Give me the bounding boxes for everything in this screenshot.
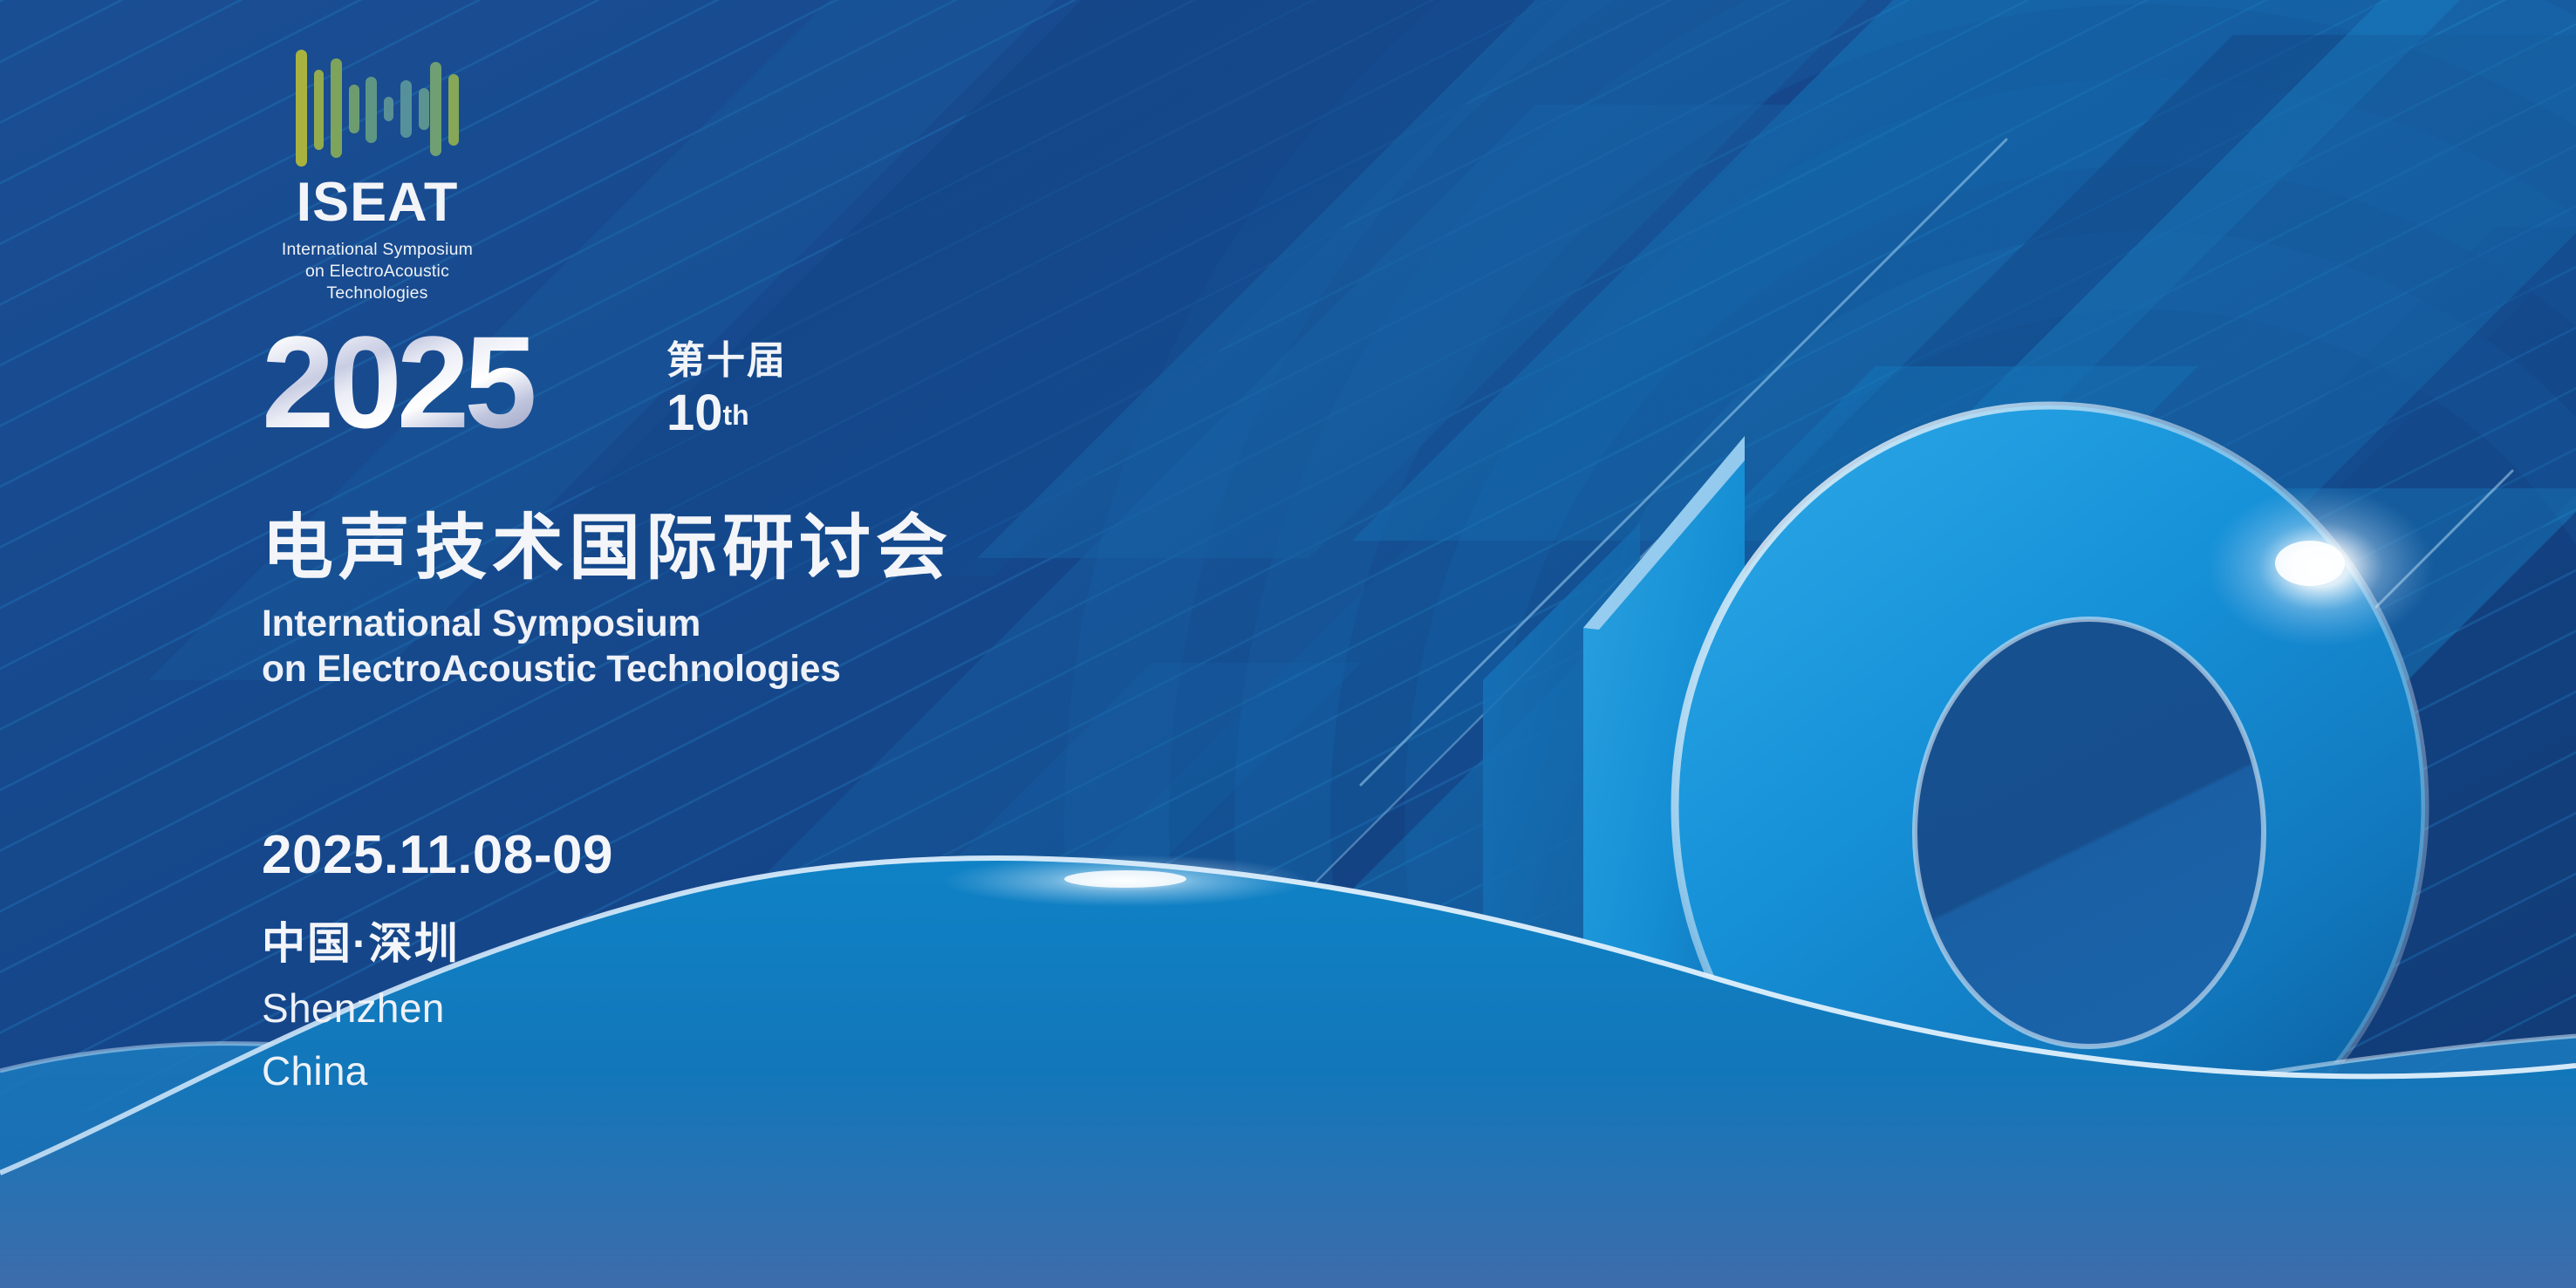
event-city-chinese: 中国·深圳 [262, 922, 613, 965]
year-edition-row: 2025 第十届 10th [262, 326, 787, 441]
logo-subtitle-line-1: International Symposium [266, 239, 489, 261]
event-date: 2025.11.08-09 [262, 828, 613, 883]
edition-ordinal: th [723, 399, 749, 431]
year-2025: 2025 [262, 326, 646, 441]
event-country-english: China [262, 1051, 613, 1091]
event-title: 电声技术国际研讨会 International Symposium on Ele… [262, 513, 953, 692]
logo-subtitle-line-3: Technologies [266, 283, 489, 304]
conference-banner: ISEAT International Symposium on Electro… [0, 0, 2576, 1288]
logo-subtitle: International Symposium on ElectroAcoust… [266, 239, 489, 304]
edition-chinese: 第十届 [666, 342, 787, 380]
title-english-line-1: International Symposium [262, 602, 953, 647]
iseat-logo: ISEAT International Symposium on Electro… [266, 48, 489, 304]
audio-waveform-icon [290, 48, 465, 167]
edition-label: 第十届 10th [666, 326, 787, 440]
event-meta: 2025.11.08-09 中国·深圳 Shenzhen China [262, 828, 613, 1091]
edition-number: 10 [666, 385, 723, 441]
title-english: International Symposium on ElectroAcoust… [262, 602, 953, 692]
title-english-line-2: on ElectroAcoustic Technologies [262, 647, 953, 692]
logo-wordmark: ISEAT [266, 175, 489, 230]
logo-subtitle-line-2: on ElectroAcoustic [266, 261, 489, 283]
event-city-english: Shenzhen [262, 988, 613, 1028]
edition-english: 10th [666, 387, 787, 440]
title-chinese: 电声技术国际研讨会 [262, 513, 953, 584]
svg-text:2025: 2025 [262, 326, 534, 441]
